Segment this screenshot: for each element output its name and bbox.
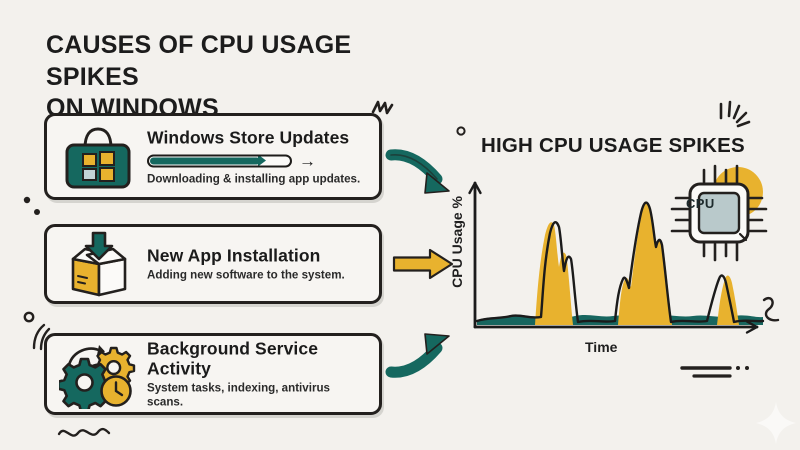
arrow-right-icon: →	[299, 152, 316, 169]
speed-lines-bottom-right-icon	[680, 362, 755, 384]
card-windows-store-updates[interactable]: Windows Store Updates → Downloading & in…	[44, 113, 382, 200]
cpu-chip-label: CPU	[686, 196, 715, 211]
card-subtitle: Downloading & installing app updates.	[147, 172, 369, 186]
progress-bar-fill	[150, 157, 260, 164]
card-subtitle: System tasks, indexing, antivirus scans.	[147, 382, 369, 410]
open-box-download-icon	[59, 231, 139, 297]
cpu-chip-icon	[662, 158, 780, 268]
arc-lines-left-lower-icon	[28, 320, 58, 354]
arrow-card3-to-chart	[385, 322, 465, 382]
small-circle-panel-topleft-icon	[452, 122, 472, 142]
update-progress: →	[147, 152, 369, 169]
windows-store-bag-icon	[59, 121, 137, 193]
squiggle-top-middle-icon	[368, 96, 400, 128]
card-body: Background Service Activity System tasks…	[147, 338, 369, 409]
gears-clock-icon	[59, 339, 141, 409]
sparkle-burst-top-right-icon	[712, 98, 758, 138]
progress-bar-track	[147, 154, 292, 167]
card-title: Background Service Activity	[147, 338, 369, 378]
chart-y-axis-label: CPU Usage %	[449, 196, 465, 288]
page-title-line1: CAUSES OF CPU USAGE SPIKES	[46, 30, 446, 93]
card-subtitle: Adding new software to the system.	[147, 269, 369, 283]
chart-x-axis-label: Time	[585, 339, 617, 355]
infographic-canvas: CAUSES OF CPU USAGE SPIKES ON WINDOWS Wi…	[0, 0, 800, 450]
sparkle-watermark-corner-icon	[754, 400, 798, 446]
card-title: Windows Store Updates	[147, 127, 369, 147]
card-background-service-activity[interactable]: Background Service Activity System tasks…	[44, 333, 382, 415]
card-body: New App Installation Adding new software…	[147, 245, 369, 282]
chart-title: HIGH CPU USAGE SPIKES	[481, 134, 745, 158]
card-new-app-installation[interactable]: New App Installation Adding new software…	[44, 224, 382, 304]
card-title: New App Installation	[147, 245, 369, 265]
dots-left-upper-icon	[20, 192, 50, 226]
arrow-card2-to-chart	[390, 245, 456, 285]
squiggle-bottom-left-icon	[55, 420, 115, 446]
card-body: Windows Store Updates → Downloading & in…	[147, 127, 369, 186]
squiggle-right-middle-icon	[758, 290, 792, 332]
